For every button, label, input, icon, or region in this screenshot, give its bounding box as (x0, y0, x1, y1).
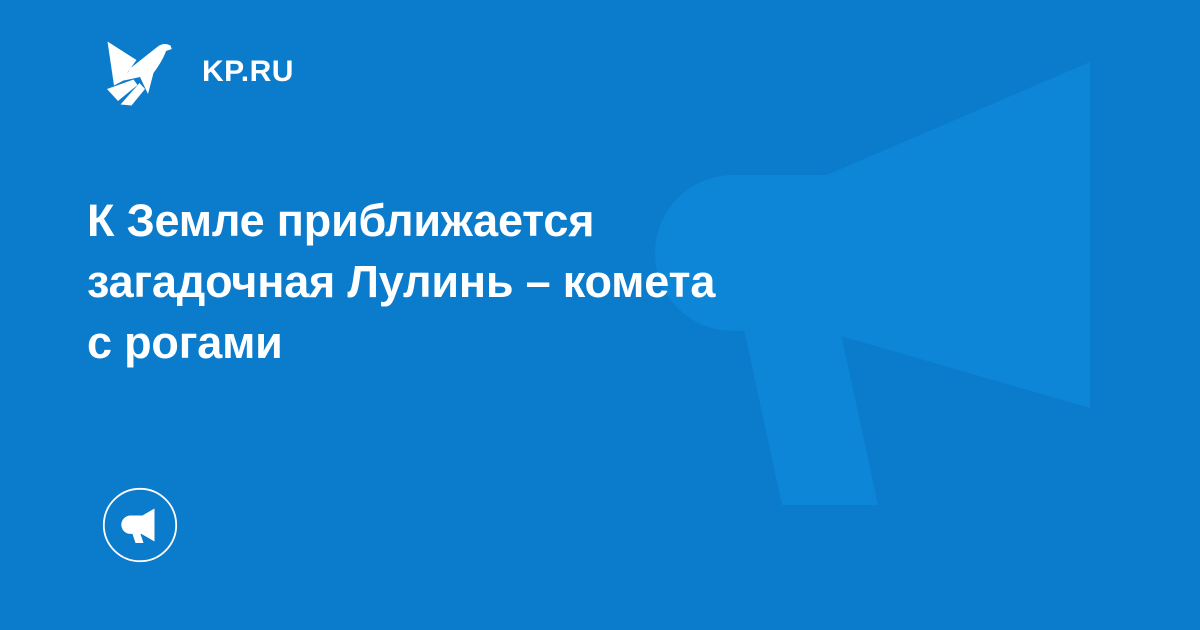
page-title: К Земле приближается загадочная Лулинь –… (87, 190, 987, 373)
megaphone-icon (102, 487, 178, 563)
megaphone-badge[interactable] (102, 487, 178, 563)
share-card: KP.RU К Земле приближается загадочная Лу… (0, 0, 1200, 630)
swallow-bird-icon (106, 38, 172, 106)
brand-name-label: KP.RU (202, 57, 294, 87)
brand-logo[interactable]: KP.RU (106, 36, 294, 108)
